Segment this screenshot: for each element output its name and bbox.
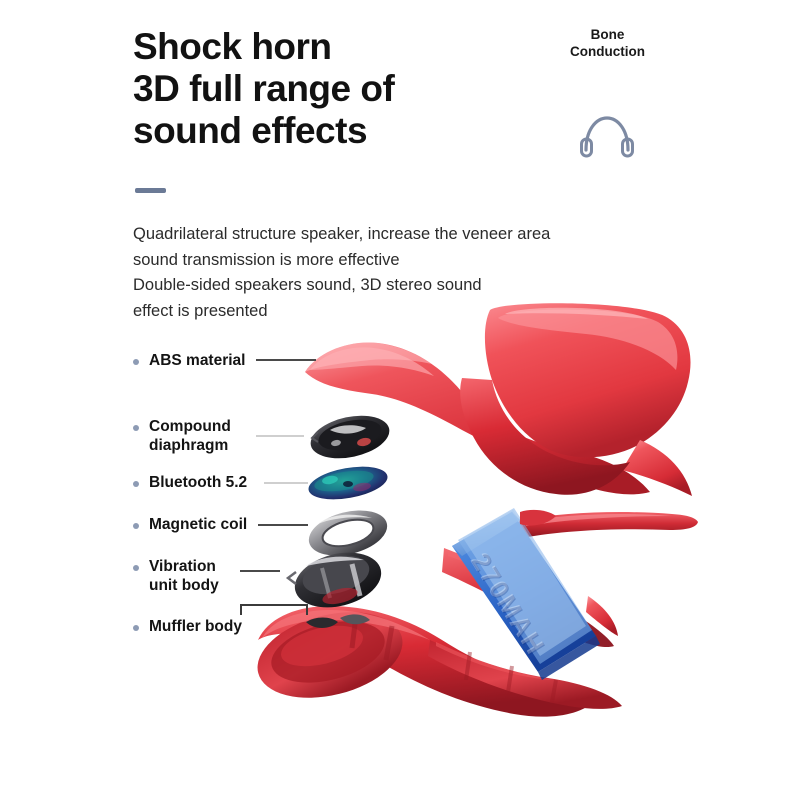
callout-label: ABS material	[149, 351, 245, 370]
leader-line-vibration-unit	[240, 570, 280, 572]
callout-vibration-unit-body: Vibration unit body	[133, 557, 219, 595]
body-paragraph: Quadrilateral structure speaker, increas…	[133, 222, 673, 324]
headline-line-3: sound effects	[133, 110, 553, 152]
badge-line-2: Conduction	[540, 43, 675, 60]
neck-strap	[517, 512, 698, 538]
leader-bracket-muffler-body	[240, 604, 308, 615]
bullet-dot-icon	[133, 481, 139, 487]
headline-line-1: Shock horn	[133, 26, 553, 68]
bluetooth-pcb-part	[306, 461, 390, 504]
muffler-body-shell	[249, 548, 622, 717]
magnetic-coil-part	[304, 503, 392, 563]
earpiece-upper-arm	[305, 343, 650, 495]
callout-label: Magnetic coil	[149, 515, 247, 534]
callout-label: Muffler body	[149, 617, 242, 636]
inner-small-parts	[306, 614, 370, 628]
body-line-1: Quadrilateral structure speaker, increas…	[133, 222, 673, 248]
headphones-icon	[578, 110, 636, 158]
body-line-2: sound transmission is more effective	[133, 248, 673, 274]
accent-divider	[135, 188, 166, 193]
leader-line-bluetooth	[264, 482, 308, 484]
bone-conduction-label: Bone Conduction	[540, 26, 675, 60]
badge-line-1: Bone	[540, 26, 675, 43]
battery-270mah: 270MAH 270MAH	[452, 508, 600, 680]
callout-muffler-body: Muffler body	[133, 617, 242, 636]
callout-abs-material: ABS material	[133, 351, 245, 370]
callout-label: Vibration unit body	[149, 557, 219, 595]
page-headline: Shock horn 3D full range of sound effect…	[133, 26, 553, 152]
headline-line-2: 3D full range of	[133, 68, 553, 110]
body-line-3: Double-sided speakers sound, 3D stereo s…	[133, 273, 673, 299]
callout-magnetic-coil: Magnetic coil	[133, 515, 247, 534]
earpiece-main-pad	[485, 303, 692, 496]
compound-diaphragm-part	[307, 409, 394, 465]
leader-line-compound-diaphragm	[256, 435, 304, 437]
bullet-dot-icon	[133, 359, 139, 365]
callout-label: Compound diaphragm	[149, 417, 231, 455]
svg-text:270MAH: 270MAH	[466, 548, 552, 661]
callout-compound-diaphragm: Compound diaphragm	[133, 417, 231, 455]
battery-label-text: 270MAH	[465, 547, 551, 660]
bullet-dot-icon	[133, 523, 139, 529]
callout-bluetooth: Bluetooth 5.2	[133, 473, 247, 492]
battery-connector	[520, 510, 556, 526]
callout-label: Bluetooth 5.2	[149, 473, 247, 492]
bullet-dot-icon	[133, 565, 139, 571]
leader-line-magnetic-coil	[258, 524, 308, 526]
bullet-dot-icon	[133, 625, 139, 631]
earpiece-hook	[460, 378, 630, 495]
leader-line-abs-material	[256, 359, 316, 361]
infographic-page: 270MAH 270MAH	[0, 0, 800, 800]
body-line-4: effect is presented	[133, 299, 673, 325]
bullet-dot-icon	[133, 425, 139, 431]
